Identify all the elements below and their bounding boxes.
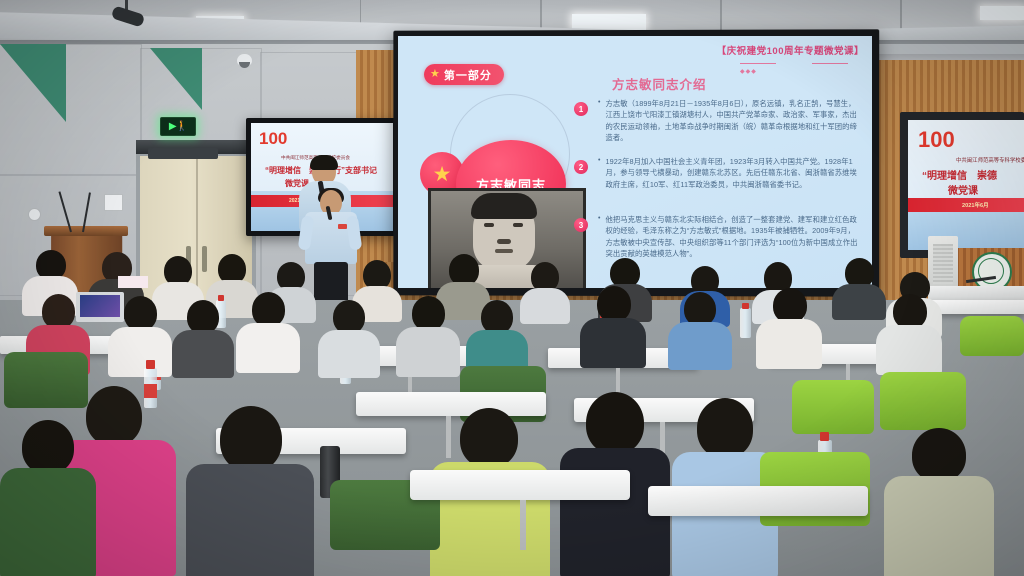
- slide-bullet-text: 他把马克思主义与赣东北实际相结合，创造了一整套建党、建军和建立红色政权的经验，毛…: [605, 214, 860, 259]
- bottle-cap: [742, 303, 749, 309]
- right-monitor-org-line: 中共闽江师范高等专科学校委员会: [956, 156, 1024, 164]
- right-monitor-title-line2: 微党课: [948, 182, 978, 197]
- water-bottle: [740, 308, 751, 338]
- attendee: [884, 428, 994, 576]
- right-monitor-slide: 100 中共闽江师范高等专科学校委员会 “明理增信 崇德 微党课 2021年6月: [908, 120, 1024, 250]
- slide-header-rule: ◆◆◆: [740, 60, 848, 66]
- party-emblem-icon: ★: [433, 164, 452, 185]
- running-man-exit-icon: ▶🚶: [169, 122, 187, 132]
- bullet-number-badge: 1: [574, 102, 588, 116]
- bullet-number-badge: 2: [574, 160, 588, 174]
- slide-bullet-text: 方志敏（1899年8月21日－1935年8月6日），原名远镇，乳名正鹄，号慧生，…: [605, 98, 860, 143]
- wall-accent-triangle: [150, 48, 202, 110]
- projection-slide[interactable]: 【庆祝建党100周年专题微党课】 ◆◆◆ ★ 第一部分 ★ 方志敏同志: [398, 36, 872, 288]
- right-monitor-title-line1: “明理增信 崇德: [922, 167, 997, 182]
- slide-title: 方志敏同志介绍: [612, 74, 707, 93]
- lectern-top: [44, 226, 128, 236]
- desk-leg: [520, 500, 526, 550]
- attendee: [876, 294, 942, 372]
- classroom-photo-scene: ▶🚶 100 中共闽江师范高等专科学校委员会 “明理增信 崇德力行”支部书记 微…: [0, 0, 1024, 576]
- centenary-logo: 100: [918, 130, 955, 150]
- attendee: [186, 406, 314, 576]
- attendee: [756, 288, 822, 366]
- desk: [648, 486, 868, 516]
- slide-bullet: • 他把马克思主义与赣东北实际相结合，创造了一整套建党、建军和建立红色政权的经验…: [598, 214, 860, 259]
- slide-header-badge: 【庆祝建党100周年专题微党课】: [717, 43, 864, 57]
- attendee: [318, 300, 380, 376]
- attendee: [466, 300, 528, 376]
- attendee: [668, 292, 732, 368]
- desk: [930, 300, 1024, 314]
- slide-bullet: • 方志敏（1899年8月21日－1935年8月6日），原名远镇，乳名正鹄，号慧…: [598, 98, 860, 143]
- desk: [410, 470, 630, 500]
- bottle-cap: [146, 360, 155, 369]
- paper-handout: [118, 276, 148, 288]
- exit-sign: ▶🚶: [160, 117, 196, 136]
- slide-section-pill: ★ 第一部分: [424, 64, 504, 85]
- wall-outlet: [28, 208, 41, 221]
- slide-bullet-text: 1922年8月加入中国社会主义青年团，1923年3月转入中国共产党。1928年1…: [605, 156, 860, 190]
- chair: [960, 316, 1024, 356]
- bullet-dash-icon: •: [598, 98, 600, 143]
- bullet-number-badge: 3: [574, 218, 588, 232]
- right-monitor-date: 2021年6月: [962, 201, 989, 209]
- bottle-cap: [820, 432, 829, 441]
- attendee: [396, 296, 460, 374]
- right-wall-monitor[interactable]: 100 中共闽江师范高等专科学校委员会 “明理增信 崇德 微党课 2021年6月: [908, 120, 1024, 250]
- chair: [792, 380, 874, 434]
- attendee: [580, 286, 646, 364]
- attendee: [172, 300, 234, 376]
- rule-dots-icon: ◆◆◆: [740, 69, 757, 75]
- slide-bullet: • 1922年8月加入中国社会主义青年团，1923年3月转入中国共产党。1928…: [598, 156, 860, 190]
- party-emblem-icon: ★: [430, 69, 440, 80]
- attendee: [236, 292, 300, 370]
- av-console-desk: [928, 286, 1024, 300]
- attendee: [0, 420, 96, 576]
- bullet-dash-icon: •: [598, 156, 600, 190]
- door-closer: [148, 148, 218, 159]
- bullet-dash-icon: •: [598, 214, 600, 259]
- ceiling-light: [980, 6, 1024, 20]
- attendee: [108, 296, 172, 374]
- slide-section-label: 第一部分: [444, 67, 492, 83]
- centenary-logo: 100: [259, 131, 287, 146]
- presenter-badge: [338, 224, 347, 229]
- chair: [880, 372, 966, 430]
- wall-accent-triangle: [0, 44, 66, 122]
- wall-switch-panel[interactable]: [104, 194, 123, 211]
